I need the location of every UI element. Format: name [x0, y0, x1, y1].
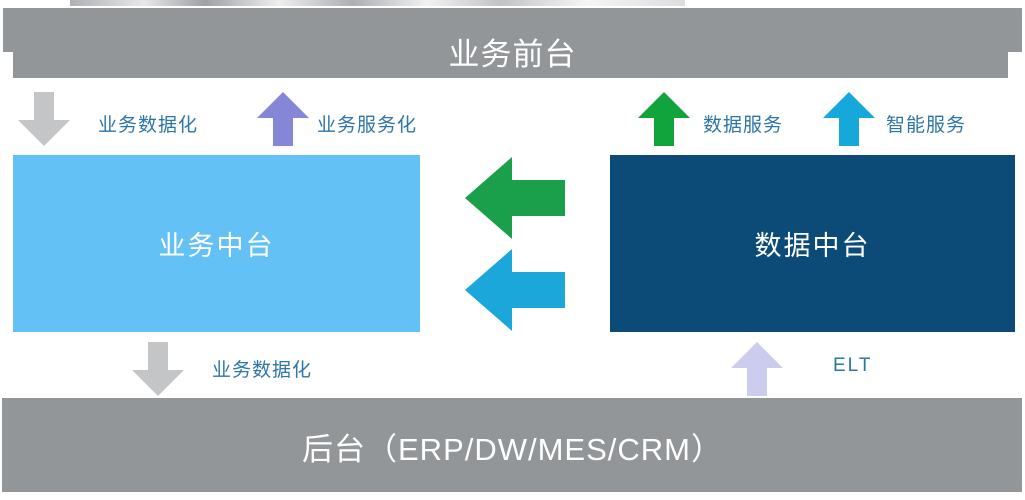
flow-label-back-to-data: ELT	[833, 355, 872, 377]
arrow-down-icon-business-to-back	[132, 342, 184, 396]
flow-label-ai-to-front: 智能服务	[886, 110, 966, 137]
business-platform-label: 业务中台	[159, 224, 275, 263]
arrow-down-icon-front-to-business	[18, 92, 70, 146]
flow-label-business-to-front: 业务服务化	[317, 110, 417, 137]
clipped-text-artifact	[70, 0, 685, 6]
flow-label-front-to-business: 业务数据化	[98, 110, 198, 137]
data-platform-label: 数据中台	[755, 224, 871, 263]
arrow-up-icon-back-to-data	[731, 342, 783, 396]
arrow-left-icon-data-to-business-lower	[465, 249, 565, 331]
business-platform-box[interactable]: 业务中台	[13, 155, 420, 332]
arrow-up-icon-data-to-front	[638, 92, 690, 146]
flow-label-business-to-back: 业务数据化	[212, 355, 312, 382]
diagram-canvas: 业务前台 业务数据化 业务服务化 数据服务 智能服务 业务中台 数据中台	[0, 0, 1025, 500]
front-office-title: 业务前台	[0, 29, 1025, 74]
back-office-title: 后台（ERP/DW/MES/CRM）	[0, 424, 1025, 469]
back-office-band-notch	[288, 492, 746, 500]
arrow-up-icon-ai-to-front	[823, 92, 875, 146]
arrow-up-icon-business-to-front	[257, 92, 309, 146]
flow-label-data-to-front: 数据服务	[703, 110, 783, 137]
data-platform-box[interactable]: 数据中台	[610, 155, 1015, 332]
arrow-left-icon-data-to-business-upper	[465, 157, 565, 239]
